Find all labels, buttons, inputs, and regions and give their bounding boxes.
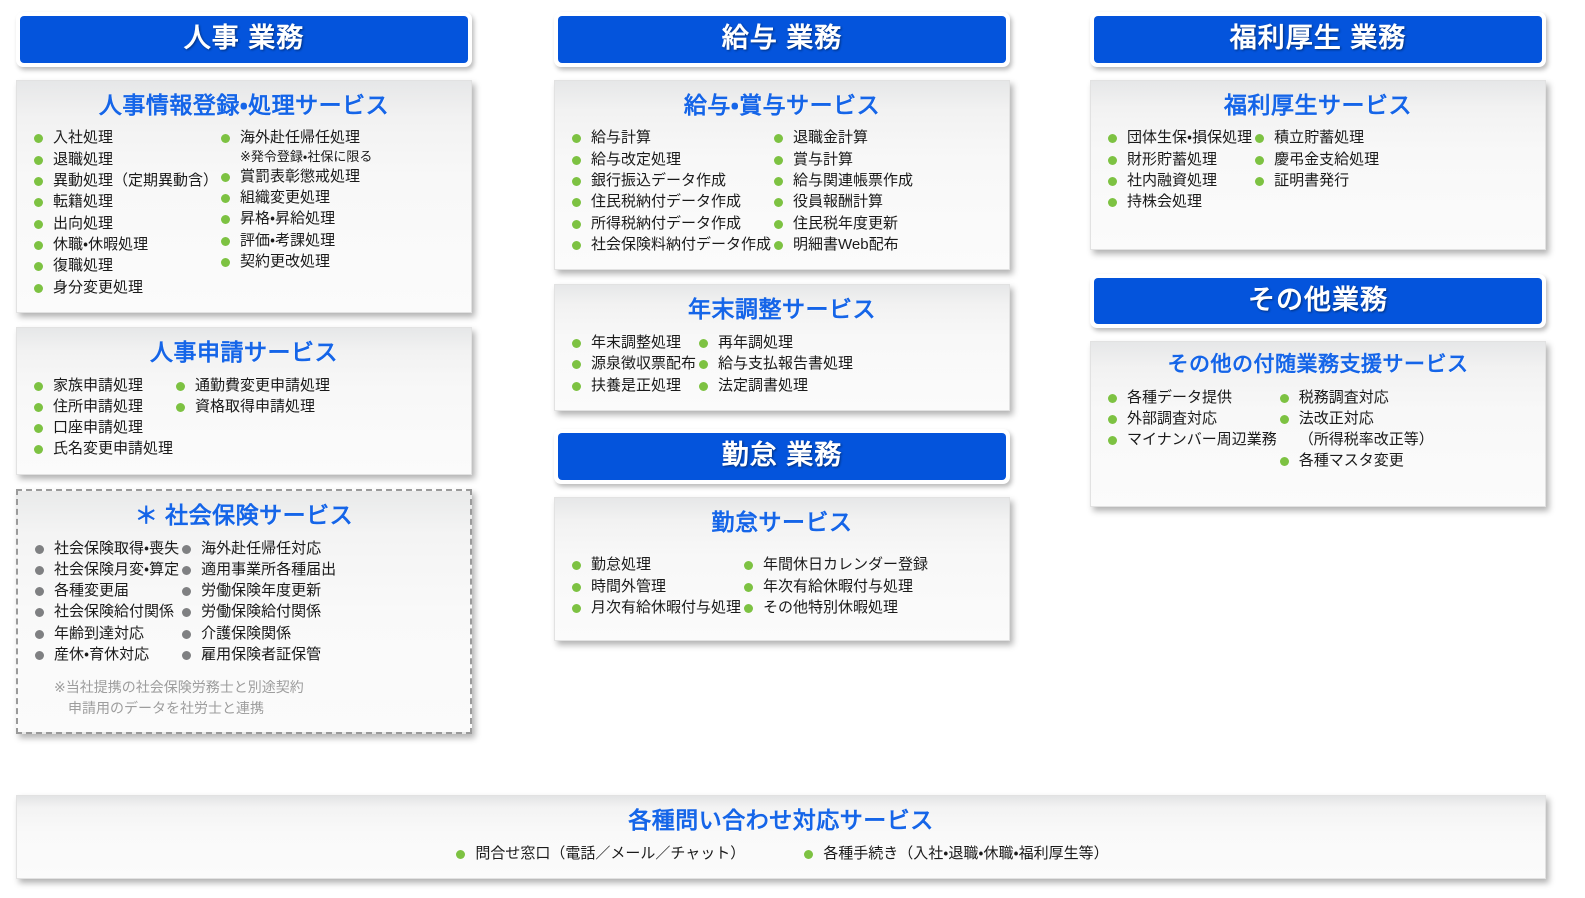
list-item: 勤怠処理 — [569, 554, 741, 575]
list-item: 適用事業所各種届出 — [179, 559, 336, 580]
list-item: 積立貯蓄処理 — [1252, 127, 1379, 148]
list-item: 資格取得申請処理 — [173, 396, 330, 417]
banner-attendance: 勤怠 業務 — [554, 429, 1010, 484]
bullet-columns: 社会保険取得・喪失 社会保険月変・算定 各種変更届 社会保険給付関係 年齢到達対… — [32, 538, 456, 666]
banner-payroll: 給与 業務 — [554, 12, 1010, 67]
bullet-column-left: 給与計算 給与改定処理 銀行振込データ作成 住民税納付データ作成 所得税納付デー… — [569, 127, 771, 255]
list-item: 介護保険関係 — [179, 623, 336, 644]
list-item: 転籍処理 — [31, 191, 218, 212]
list-item: 産休・育休対応 — [32, 644, 179, 665]
bullet-column-left: 社会保険取得・喪失 社会保険月変・算定 各種変更届 社会保険給付関係 年齢到達対… — [32, 538, 179, 666]
list-item: 労働保険年度更新 — [179, 580, 336, 601]
list-item: 住民税納付データ作成 — [569, 191, 771, 212]
list-item: 給与関連帳票作成 — [771, 170, 913, 191]
list-item: 給与改定処理 — [569, 149, 771, 170]
card-title-year-end-adjustment: 年末調整サービス — [569, 295, 995, 324]
bullet-column-right: 積立貯蓄処理 慶弔金支給処理 証明書発行 — [1252, 127, 1379, 212]
banner-hr-title: 人事 業務 — [24, 24, 464, 54]
list-item: 慶弔金支給処理 — [1252, 149, 1379, 170]
list-item: 法改正対応 — [1277, 408, 1434, 429]
list-item-subnote: ※発令登録・社保に限る — [218, 149, 372, 166]
bullet-columns: 入社処理 退職処理 異動処理（定期異動含） 転籍処理 出向処理 休職・休暇処理 … — [31, 127, 457, 297]
list-item: 源泉徴収票配布 — [569, 353, 696, 374]
list-item: 銀行振込データ作成 — [569, 170, 771, 191]
list-item: 扶養是正処理 — [569, 375, 696, 396]
list-item: 海外赴任帰任対応 — [179, 538, 336, 559]
card-inquiry-service: 各種問い合わせ対応サービス 問合せ窓口（電話／メール／チャット） 各種手続き（入… — [16, 795, 1546, 879]
card-title-attendance-service: 勤怠サービス — [569, 508, 995, 537]
list-item: 氏名変更申請処理 — [31, 438, 173, 459]
list-item: 異動処理（定期異動含） — [31, 170, 218, 191]
list-item: 身分変更処理 — [31, 277, 218, 298]
bullet-column-right: 海外赴任帰任処理 ※発令登録・社保に限る 賞罰表彰懲戒処理 組織変更処理 昇格・… — [218, 127, 372, 297]
list-item: 給与支払報告書処理 — [696, 353, 853, 374]
banner-hr-inner: 人事 業務 — [20, 16, 468, 63]
banner-attendance-inner: 勤怠 業務 — [558, 433, 1006, 480]
list-item: 問合せ窓口（電話／メール／チャット） — [453, 843, 745, 864]
banner-benefits: 福利厚生 業務 — [1090, 12, 1546, 67]
bullet-column-left: 年末調整処理 源泉徴収票配布 扶養是正処理 — [569, 332, 696, 396]
list-item: 雇用保険者証保管 — [179, 644, 336, 665]
list-item: 税務調査対応 — [1277, 387, 1434, 408]
list-item: 証明書発行 — [1252, 170, 1379, 191]
list-item: 持株会処理 — [1105, 191, 1252, 212]
list-item: 社会保険取得・喪失 — [32, 538, 179, 559]
list-item: 復職処理 — [31, 255, 218, 276]
list-item: 退職処理 — [31, 149, 218, 170]
bullet-columns: 勤怠処理 時間外管理 月次有給休暇付与処理 年間休日カレンダー登録 年次有給休暇… — [569, 554, 995, 618]
banner-benefits-inner: 福利厚生 業務 — [1094, 16, 1542, 63]
banner-other-inner: その他業務 — [1094, 278, 1542, 325]
list-item: 組織変更処理 — [218, 187, 372, 208]
column-hr: 人事 業務 人事情報登録・処理サービス 入社処理 退職処理 異動処理（定期異動含… — [16, 12, 472, 748]
card-hr-info-registration: 人事情報登録・処理サービス 入社処理 退職処理 異動処理（定期異動含） 転籍処理… — [16, 80, 472, 313]
bullet-column-right: 再年調処理 給与支払報告書処理 法定調書処理 — [696, 332, 853, 396]
list-item: 所得税納付データ作成 — [569, 213, 771, 234]
card-year-end-adjustment: 年末調整サービス 年末調整処理 源泉徴収票配布 扶養是正処理 再年調処理 給与支… — [554, 284, 1010, 411]
list-item: 家族申請処理 — [31, 375, 173, 396]
list-item: 各種マスタ変更 — [1277, 450, 1434, 471]
banner-payroll-inner: 給与 業務 — [558, 16, 1006, 63]
bullet-columns: 年末調整処理 源泉徴収票配布 扶養是正処理 再年調処理 給与支払報告書処理 法定… — [569, 332, 995, 396]
list-item: 月次有給休暇付与処理 — [569, 597, 741, 618]
list-item: 各種変更届 — [32, 580, 179, 601]
card-footnote-social-insurance: ※当社提携の社会保険労務士と別途契約 申請用のデータを社労士と連携 — [32, 677, 456, 718]
list-item: 休職・休暇処理 — [31, 234, 218, 255]
list-item: 通勤費変更申請処理 — [173, 375, 330, 396]
bullet-column-left: 家族申請処理 住所申請処理 口座申請処理 氏名変更申請処理 — [31, 375, 173, 460]
card-title-social-insurance: ＊ 社会保険サービス — [32, 501, 456, 530]
list-item-continuation: （所得税率改正等） — [1277, 429, 1434, 450]
list-item: 年間休日カレンダー登録 — [741, 554, 928, 575]
card-title-hr-info-registration: 人事情報登録・処理サービス — [31, 91, 457, 120]
card-welfare-service: 福利厚生サービス 団体生保・損保処理 財形貯蓄処理 社内融資処理 持株会処理 積… — [1090, 80, 1546, 250]
card-title-other-support-service: その他の付随業務支援サービス — [1105, 352, 1531, 378]
footnote-line-1: ※当社提携の社会保険労務士と別途契約 — [54, 679, 304, 695]
service-map-board: 人事 業務 人事情報登録・処理サービス 入社処理 退職処理 異動処理（定期異動含… — [0, 0, 1585, 898]
bullet-column-right: 通勤費変更申請処理 資格取得申請処理 — [173, 375, 330, 460]
banner-other-title: その他業務 — [1098, 286, 1538, 316]
list-item: 法定調書処理 — [696, 375, 853, 396]
list-item: マイナンバー周辺業務 — [1105, 429, 1277, 450]
list-item: 契約更改処理 — [218, 251, 372, 272]
list-item: 社会保険月変・算定 — [32, 559, 179, 580]
list-item: 賞与計算 — [771, 149, 913, 170]
card-social-insurance: ＊ 社会保険サービス 社会保険取得・喪失 社会保険月変・算定 各種変更届 社会保… — [16, 489, 472, 734]
list-item: 出向処理 — [31, 213, 218, 234]
bullet-columns: 各種データ提供 外部調査対応 マイナンバー周辺業務 税務調査対応 法改正対応 （… — [1105, 387, 1531, 472]
card-hr-application: 人事申請サービス 家族申請処理 住所申請処理 口座申請処理 氏名変更申請処理 通… — [16, 327, 472, 475]
column-benefits: 福利厚生 業務 福利厚生サービス 団体生保・損保処理 財形貯蓄処理 社内融資処理… — [1090, 12, 1546, 521]
bullet-column-left: 勤怠処理 時間外管理 月次有給休暇付与処理 — [569, 554, 741, 618]
card-title-welfare-service: 福利厚生サービス — [1105, 91, 1531, 120]
list-item: 役員報酬計算 — [771, 191, 913, 212]
list-item: 昇格・昇給処理 — [218, 208, 372, 229]
bullet-column-right: 退職金計算 賞与計算 給与関連帳票作成 役員報酬計算 住民税年度更新 明細書We… — [771, 127, 913, 255]
list-item: 住民税年度更新 — [771, 213, 913, 234]
column-payroll: 給与 業務 給与・賞与サービス 給与計算 給与改定処理 銀行振込データ作成 住民… — [554, 12, 1010, 655]
banner-hr: 人事 業務 — [16, 12, 472, 67]
banner-benefits-title: 福利厚生 業務 — [1098, 24, 1538, 54]
list-item: 年末調整処理 — [569, 332, 696, 353]
list-item: 年齢到達対応 — [32, 623, 179, 644]
list-item: 外部調査対応 — [1105, 408, 1277, 429]
list-item: 退職金計算 — [771, 127, 913, 148]
bullet-row-inquiry: 問合せ窓口（電話／メール／チャット） 各種手続き（入社・退職・休職・福利厚生等） — [17, 843, 1545, 864]
banner-other: その他業務 — [1090, 274, 1546, 329]
card-other-support-service: その他の付随業務支援サービス 各種データ提供 外部調査対応 マイナンバー周辺業務… — [1090, 341, 1546, 506]
bullet-column-left: 入社処理 退職処理 異動処理（定期異動含） 転籍処理 出向処理 休職・休暇処理 … — [31, 127, 218, 297]
card-attendance-service: 勤怠サービス 勤怠処理 時間外管理 月次有給休暇付与処理 年間休日カレンダー登録… — [554, 497, 1010, 642]
list-item: 給与計算 — [569, 127, 771, 148]
bullet-column-left: 団体生保・損保処理 財形貯蓄処理 社内融資処理 持株会処理 — [1105, 127, 1252, 212]
card-title-salary-bonus: 給与・賞与サービス — [569, 91, 995, 120]
banner-attendance-title: 勤怠 業務 — [562, 441, 1002, 471]
card-title-hr-application: 人事申請サービス — [31, 338, 457, 367]
bullet-column-right: 年間休日カレンダー登録 年次有給休暇付与処理 その他特別休暇処理 — [741, 554, 928, 618]
list-item: 評価・考課処理 — [218, 230, 372, 251]
list-item: 各種手続き（入社・退職・休職・福利厚生等） — [801, 843, 1108, 864]
bullet-columns: 団体生保・損保処理 財形貯蓄処理 社内融資処理 持株会処理 積立貯蓄処理 慶弔金… — [1105, 127, 1531, 212]
list-item: 社会保険料納付データ作成 — [569, 234, 771, 255]
footnote-line-2: 申請用のデータを社労士と連携 — [54, 698, 456, 718]
list-item: 明細書Web配布 — [771, 234, 913, 255]
list-item: 労働保険給付関係 — [179, 601, 336, 622]
list-item: 各種データ提供 — [1105, 387, 1277, 408]
list-item: その他特別休暇処理 — [741, 597, 928, 618]
card-salary-bonus: 給与・賞与サービス 給与計算 給与改定処理 銀行振込データ作成 住民税納付データ… — [554, 80, 1010, 271]
list-item: 賞罰表彰懲戒処理 — [218, 166, 372, 187]
bullet-column-right: 税務調査対応 法改正対応 （所得税率改正等） 各種マスタ変更 — [1277, 387, 1434, 472]
bullet-columns: 家族申請処理 住所申請処理 口座申請処理 氏名変更申請処理 通勤費変更申請処理 … — [31, 375, 457, 460]
list-item: 入社処理 — [31, 127, 218, 148]
list-item: 社内融資処理 — [1105, 170, 1252, 191]
list-item: 時間外管理 — [569, 576, 741, 597]
list-item: 団体生保・損保処理 — [1105, 127, 1252, 148]
list-item: 住所申請処理 — [31, 396, 173, 417]
list-item: 社会保険給付関係 — [32, 601, 179, 622]
list-item: 財形貯蓄処理 — [1105, 149, 1252, 170]
bullet-columns: 給与計算 給与改定処理 銀行振込データ作成 住民税納付データ作成 所得税納付デー… — [569, 127, 995, 255]
list-item: 口座申請処理 — [31, 417, 173, 438]
banner-payroll-title: 給与 業務 — [562, 24, 1002, 54]
list-item: 海外赴任帰任処理 — [218, 127, 372, 148]
bullet-column-left: 各種データ提供 外部調査対応 マイナンバー周辺業務 — [1105, 387, 1277, 472]
bullet-column-right: 海外赴任帰任対応 適用事業所各種届出 労働保険年度更新 労働保険給付関係 介護保… — [179, 538, 336, 666]
list-item: 再年調処理 — [696, 332, 853, 353]
list-item: 年次有給休暇付与処理 — [741, 576, 928, 597]
card-title-inquiry-service: 各種問い合わせ対応サービス — [17, 806, 1545, 835]
